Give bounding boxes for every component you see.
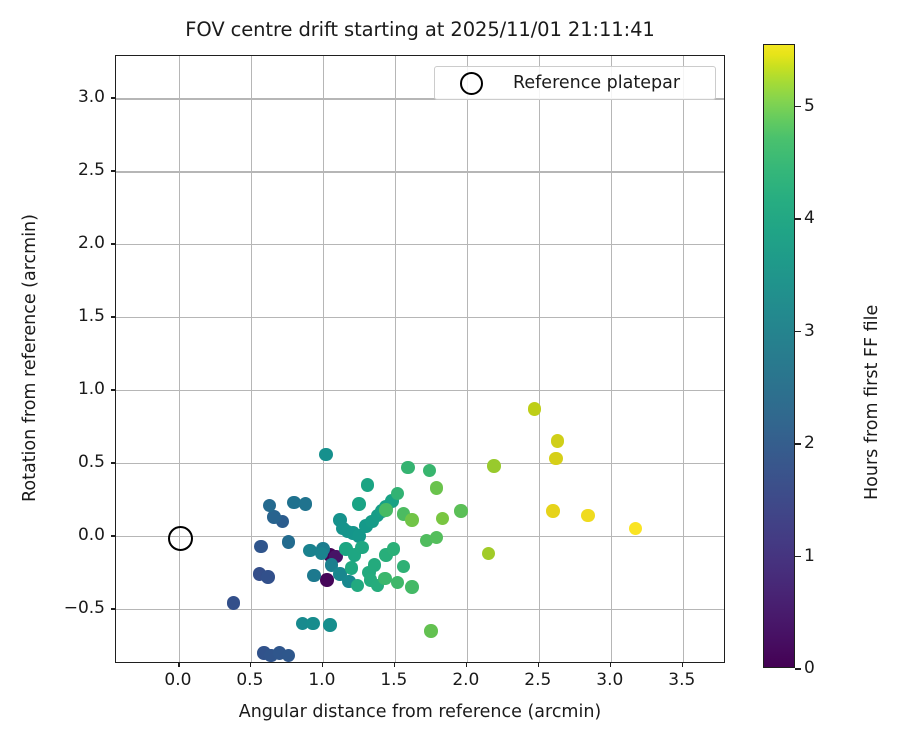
gridline-horizontal-3 <box>116 390 724 391</box>
data-point <box>361 478 375 492</box>
colorbar-tick-label-3: 3 <box>804 321 815 341</box>
colorbar-label: Hours from first FF file <box>862 305 882 500</box>
x-tick-3 <box>394 663 396 667</box>
y-tick-label-7: 3.0 <box>78 87 105 107</box>
data-point <box>454 504 468 518</box>
data-point <box>482 547 496 561</box>
colorbar-tick-label-0: 0 <box>804 658 815 678</box>
data-point <box>282 535 296 549</box>
colorbar-tick-5 <box>795 106 801 108</box>
data-point <box>629 522 643 536</box>
x-tick-4 <box>466 663 468 667</box>
data-point <box>436 512 450 526</box>
x-tick-label-1: 0.5 <box>236 670 263 690</box>
plot-area <box>116 56 724 662</box>
x-tick-label-0: 0.0 <box>164 670 191 690</box>
data-point <box>423 464 437 478</box>
legend[interactable]: Reference platepar <box>434 66 716 100</box>
data-point <box>254 540 268 554</box>
colorbar-tick-label-5: 5 <box>804 96 815 116</box>
chart-title: FOV centre drift starting at 2025/11/01 … <box>115 18 725 41</box>
gridline-vertical-1 <box>251 56 252 662</box>
data-point <box>345 561 359 575</box>
gridline-vertical-5 <box>539 56 540 662</box>
colorbar-tick-label-2: 2 <box>804 433 815 453</box>
data-point <box>378 572 392 586</box>
x-tick-5 <box>538 663 540 667</box>
data-point <box>546 504 560 518</box>
colorbar-tick-label-1: 1 <box>804 546 815 566</box>
data-point <box>379 503 393 517</box>
data-point <box>528 402 542 416</box>
data-point <box>307 569 321 583</box>
colorbar <box>763 44 795 668</box>
x-tick-label-3: 1.5 <box>380 670 407 690</box>
data-point <box>387 542 401 556</box>
x-tick-7 <box>682 663 684 667</box>
x-tick-label-4: 2.0 <box>452 670 479 690</box>
data-point <box>319 448 333 462</box>
gridline-vertical-2 <box>323 56 324 662</box>
gridline-vertical-7 <box>683 56 684 662</box>
data-point <box>391 487 405 501</box>
gridline-horizontal-2 <box>116 463 724 464</box>
y-tick-label-2: 0.5 <box>78 452 105 472</box>
data-point <box>352 497 366 511</box>
data-point <box>551 434 565 448</box>
gridline-vertical-4 <box>467 56 468 662</box>
x-tick-label-5: 2.5 <box>524 670 551 690</box>
data-point <box>306 617 320 631</box>
data-point <box>581 509 595 523</box>
y-tick-label-3: 1.0 <box>78 379 105 399</box>
data-point <box>355 541 369 555</box>
data-point <box>401 461 415 475</box>
data-point <box>261 570 275 584</box>
y-axis-label: Rotation from reference (arcmin) <box>20 54 40 662</box>
y-tick-label-1: 0.0 <box>78 525 105 545</box>
gridline-vertical-3 <box>395 56 396 662</box>
data-point <box>405 513 419 527</box>
y-tick-1 <box>111 535 115 537</box>
x-tick-1 <box>250 663 252 667</box>
colorbar-tick-0 <box>795 668 801 670</box>
y-tick-label-5: 2.0 <box>78 233 105 253</box>
gridline-vertical-0 <box>179 56 180 662</box>
gridline-horizontal-0 <box>116 609 724 610</box>
y-tick-4 <box>111 316 115 318</box>
gridline-vertical-6 <box>611 56 612 662</box>
plot-axes <box>115 55 725 663</box>
colorbar-tick-1 <box>795 556 801 558</box>
data-point <box>368 558 382 572</box>
data-point <box>424 624 438 638</box>
data-point <box>299 497 313 511</box>
x-tick-6 <box>610 663 612 667</box>
colorbar-tick-2 <box>795 443 801 445</box>
gridline-horizontal-4 <box>116 317 724 318</box>
gridline-horizontal-5 <box>116 244 724 245</box>
data-point <box>397 560 411 574</box>
colorbar-tick-4 <box>795 218 801 220</box>
colorbar-tick-3 <box>795 331 801 333</box>
y-tick-7 <box>111 97 115 99</box>
x-axis-label: Angular distance from reference (arcmin) <box>115 702 725 722</box>
data-point <box>405 580 419 594</box>
data-point <box>320 573 334 587</box>
data-point <box>227 596 241 610</box>
x-tick-2 <box>322 663 324 667</box>
x-tick-label-7: 3.5 <box>668 670 695 690</box>
data-point <box>323 618 337 632</box>
data-point <box>282 649 296 662</box>
x-tick-0 <box>178 663 180 667</box>
y-tick-5 <box>111 243 115 245</box>
legend-label-reference-platepar: Reference platepar <box>513 73 680 93</box>
y-tick-label-6: 2.5 <box>78 160 105 180</box>
y-tick-label-4: 1.5 <box>78 306 105 326</box>
reference-platepar-marker <box>168 526 193 551</box>
y-tick-3 <box>111 389 115 391</box>
y-tick-6 <box>111 170 115 172</box>
colorbar-tick-label-4: 4 <box>804 208 815 228</box>
legend-marker-reference-platepar <box>460 72 483 95</box>
y-tick-label-0: −0.5 <box>64 598 105 618</box>
figure: FOV centre drift starting at 2025/11/01 … <box>0 0 900 750</box>
data-point <box>487 459 501 473</box>
data-point <box>267 510 281 524</box>
data-point <box>351 579 365 593</box>
data-point <box>430 531 444 545</box>
y-tick-0 <box>111 608 115 610</box>
x-tick-label-2: 1.0 <box>308 670 335 690</box>
data-point <box>391 576 405 590</box>
data-point <box>430 481 444 495</box>
y-tick-2 <box>111 462 115 464</box>
gridline-horizontal-6 <box>116 171 724 172</box>
x-tick-label-6: 3.0 <box>596 670 623 690</box>
